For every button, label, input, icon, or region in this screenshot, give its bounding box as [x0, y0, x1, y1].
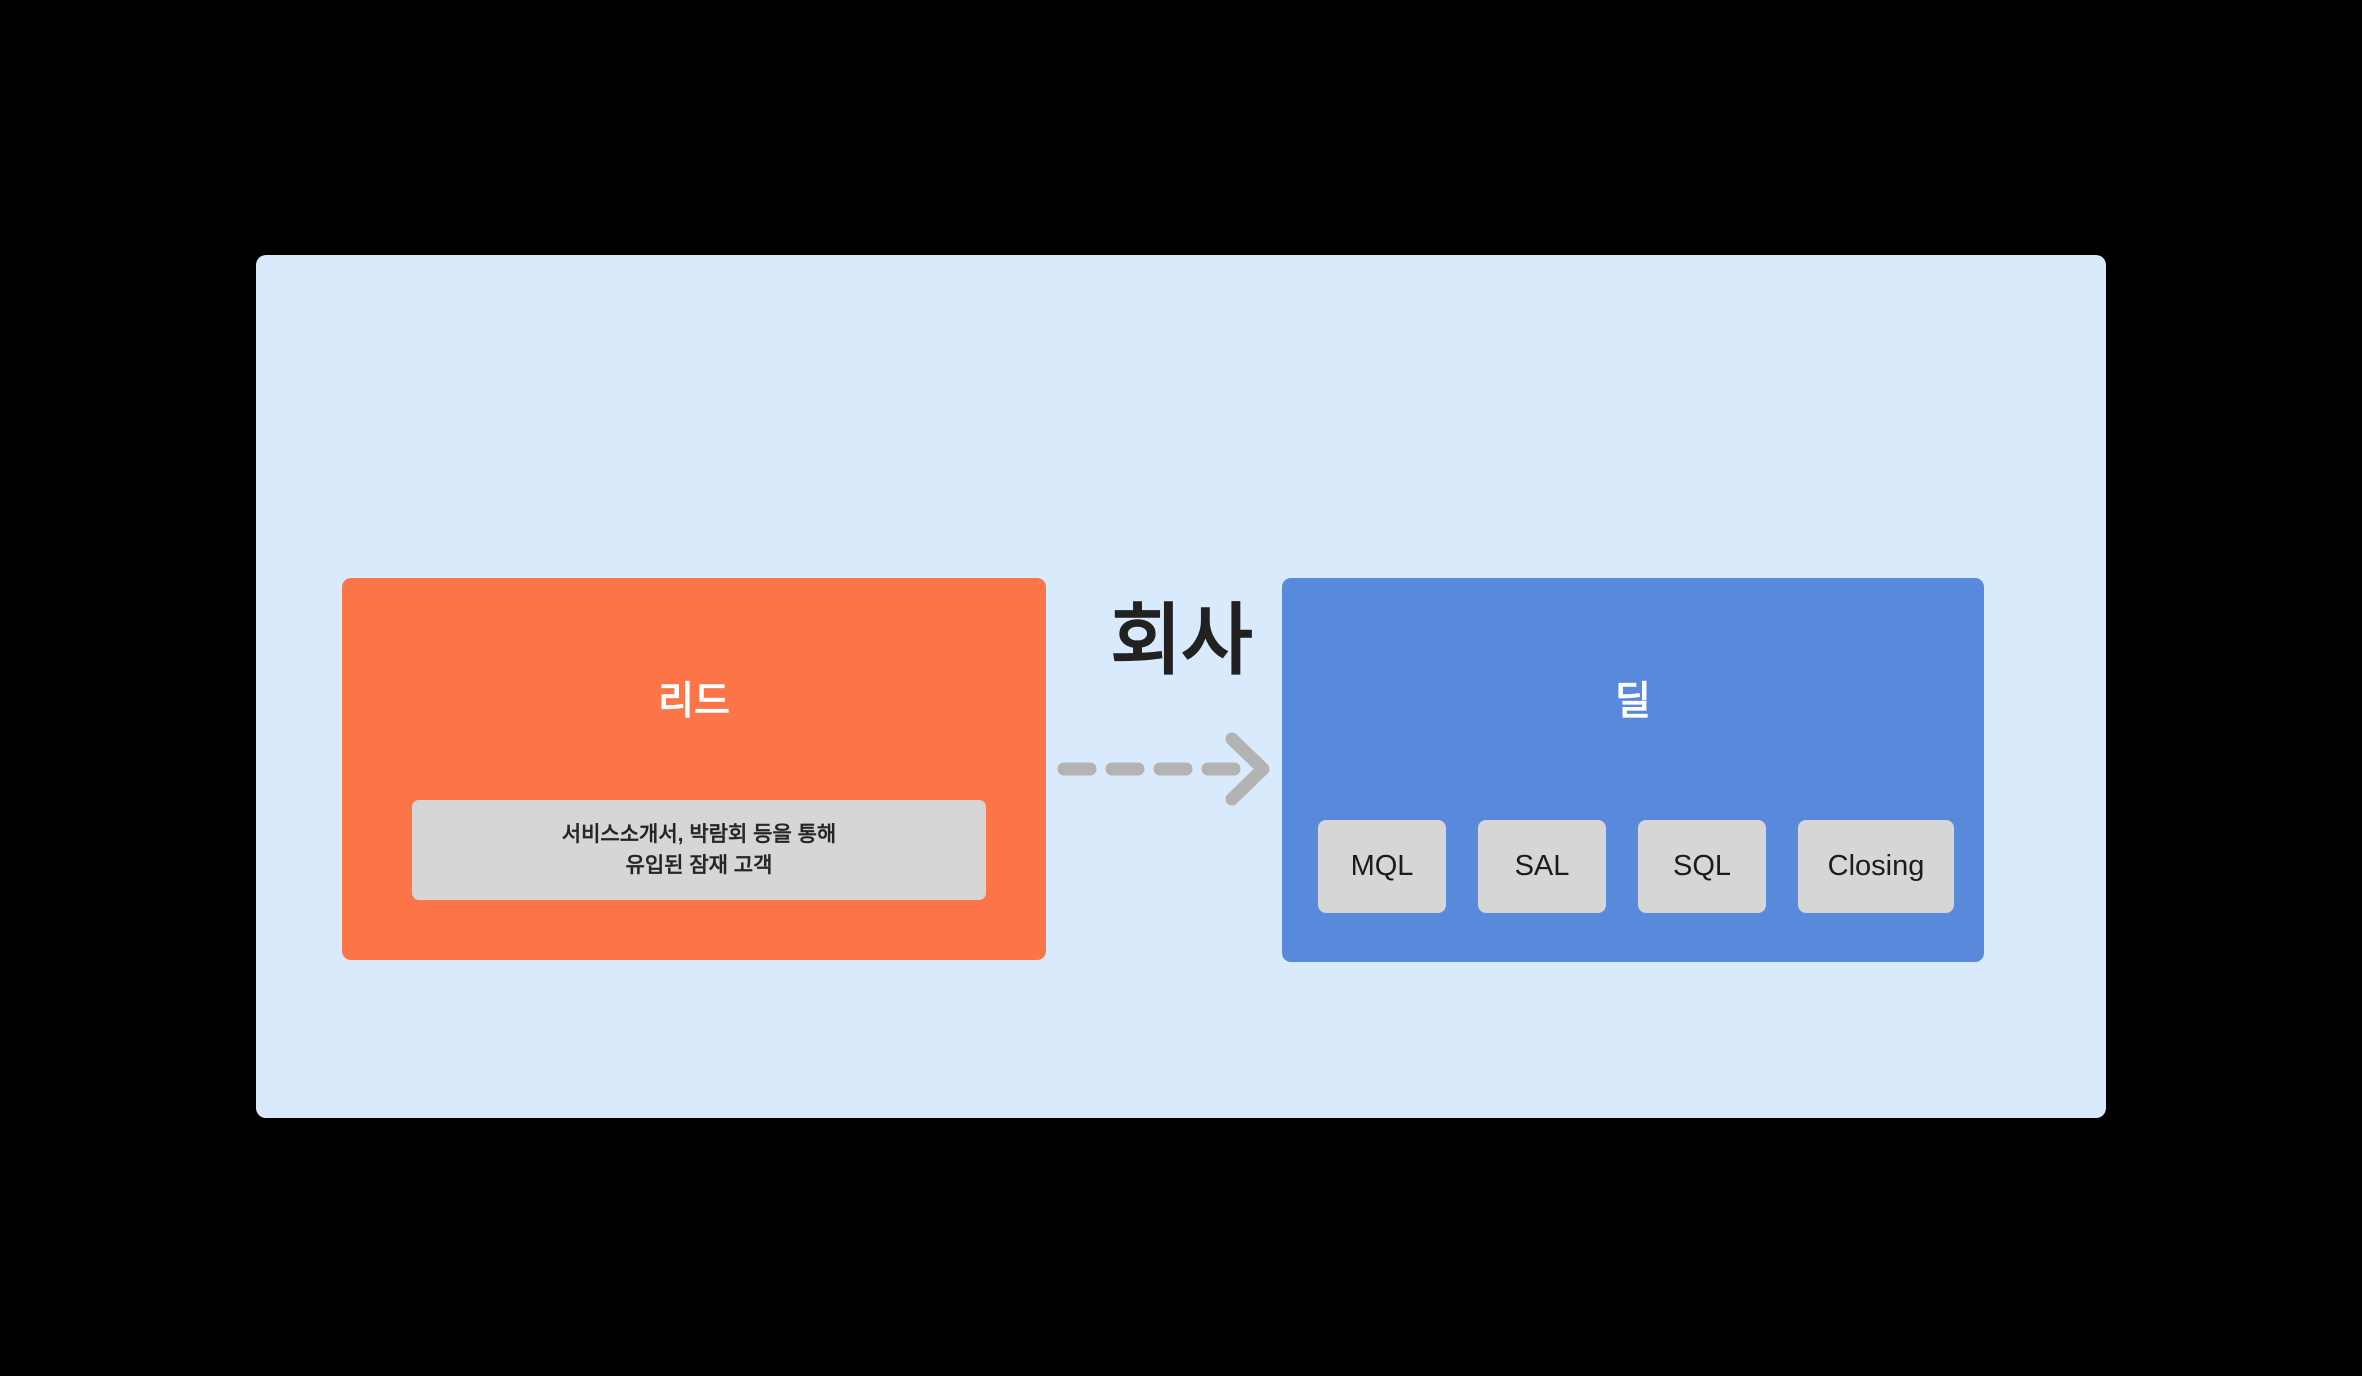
diagram-canvas: 회사 리드 서비스소개서, 박람회 등을 통해 유입된 잠재 고객 딜 MQL …: [0, 0, 2362, 1376]
lead-description-card: 서비스소개서, 박람회 등을 통해 유입된 잠재 고객: [412, 800, 986, 900]
lead-description-line-1: 서비스소개서, 박람회 등을 통해: [562, 822, 837, 847]
lead-stage-title: 리드: [342, 682, 1046, 721]
deal-stage-closing[interactable]: Closing: [1798, 820, 1954, 913]
lead-description-line-2: 유입된 잠재 고객: [626, 853, 773, 878]
deal-stage-list: MQL SAL SQL Closing: [1318, 820, 1954, 913]
lead-stage-box[interactable]: 리드 서비스소개서, 박람회 등을 통해 유입된 잠재 고객: [342, 578, 1046, 960]
deal-stage-box[interactable]: 딜 MQL SAL SQL Closing: [1282, 578, 1984, 962]
deal-stage-mql[interactable]: MQL: [1318, 820, 1446, 913]
deal-stage-sal[interactable]: SAL: [1478, 820, 1606, 913]
dashed-arrow-right-icon: [1056, 727, 1282, 811]
deal-stage-sql[interactable]: SQL: [1638, 820, 1766, 913]
deal-stage-title: 딜: [1282, 682, 1984, 721]
company-panel: 회사 리드 서비스소개서, 박람회 등을 통해 유입된 잠재 고객 딜 MQL …: [256, 255, 2106, 1118]
